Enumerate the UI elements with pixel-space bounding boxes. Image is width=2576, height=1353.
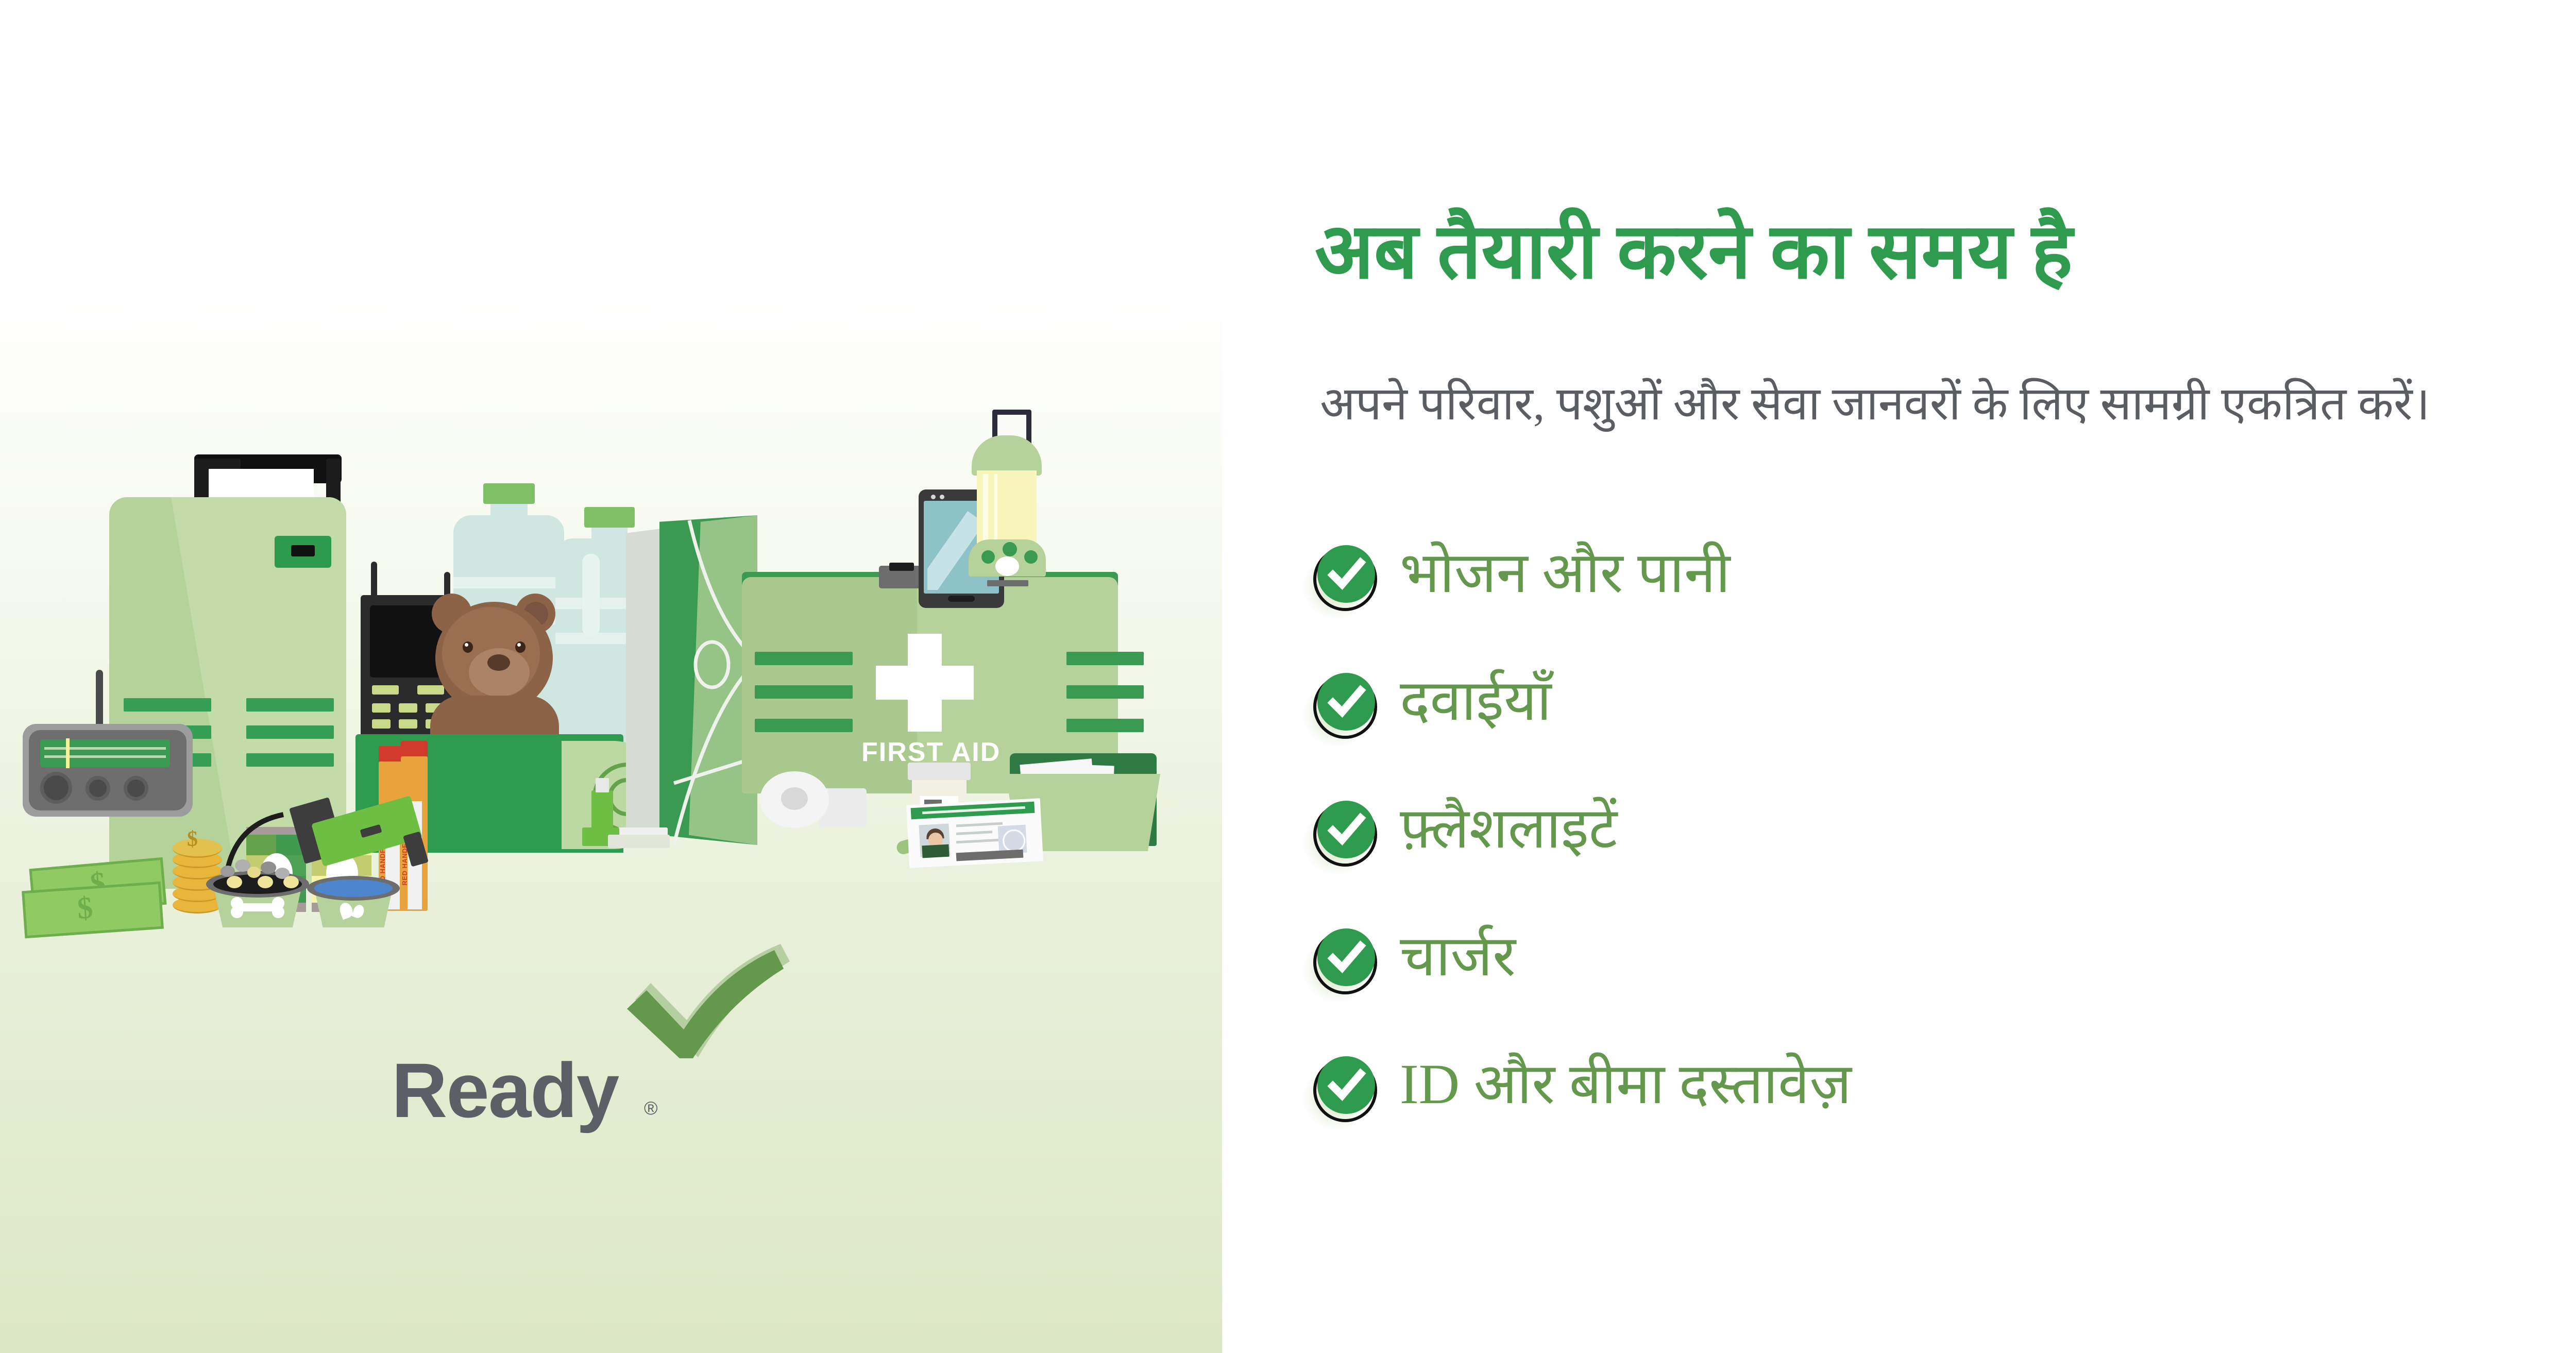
suitcase-strap — [246, 725, 334, 739]
radio-needle — [66, 738, 70, 768]
first-aid-strap — [755, 719, 853, 732]
lantern-knob — [981, 550, 995, 564]
walkie-talkie-key — [399, 719, 417, 729]
list-item[interactable]: ID और बीमा दस्तावेज़ — [1312, 1042, 2549, 1170]
first-aid-strap — [1066, 685, 1144, 699]
toilet-paper-core — [781, 787, 808, 810]
first-aid-cross-icon — [876, 666, 974, 700]
lantern-base-bar — [987, 580, 1028, 586]
walkie-talkie-key — [372, 685, 399, 695]
tablet-home-button — [948, 596, 975, 602]
first-aid-clasp-top — [889, 563, 914, 571]
coin-dollar-icon: $ — [187, 827, 198, 852]
battery-terminal — [596, 778, 609, 792]
content-panel: अब तैयारी करने का समय है अपने परिवार, पश… — [1222, 0, 2576, 1353]
water-jug-back-cap — [483, 483, 535, 504]
check-circle-icon — [1312, 928, 1374, 990]
registered-trademark-icon: ® — [644, 1097, 658, 1119]
pill-bottle-cap — [908, 763, 971, 780]
check-circle-icon — [1312, 801, 1374, 862]
suitcase-strap — [246, 698, 334, 712]
radio-knob — [86, 776, 110, 801]
jug-band — [453, 577, 564, 588]
first-aid-strap — [755, 685, 853, 699]
walkie-talkie-key — [372, 703, 391, 713]
pet-water-surface — [314, 880, 393, 897]
poster-canvas: FIRST AID — [0, 0, 2576, 1353]
list-item[interactable]: फ़्लैशलाइटें — [1312, 786, 2549, 914]
teddy-nose — [487, 654, 510, 671]
list-item-label: चार्जर — [1400, 914, 1516, 999]
id-photo-suit — [922, 844, 949, 858]
radio-dial-line — [44, 747, 166, 750]
lantern-knob — [1003, 542, 1017, 556]
check-circle-icon — [1312, 1056, 1374, 1118]
walkie-talkie-key — [417, 685, 444, 695]
teddy-eye-glint-right — [517, 643, 521, 647]
list-item-label: भोजन और पानी — [1400, 531, 1731, 616]
napkin-pack — [608, 835, 670, 848]
lantern-lens — [995, 556, 1019, 576]
first-aid-strap — [755, 652, 853, 665]
walkie-talkie-key — [399, 703, 417, 713]
radio-knob — [40, 772, 72, 804]
list-item-label: दवाईयाँ — [1400, 658, 1551, 743]
ready-logo: Ready ® — [330, 943, 845, 1159]
radio-knob — [124, 776, 148, 801]
water-jug-front-cap — [584, 507, 635, 528]
kibble — [258, 876, 273, 888]
list-item[interactable]: भोजन और पानी — [1312, 531, 2549, 658]
radio-dial-line — [44, 755, 166, 758]
list-item[interactable]: दवाईयाँ — [1312, 658, 2549, 786]
kibble — [283, 876, 299, 888]
suitcase-strap — [124, 698, 211, 712]
radio-dial — [40, 739, 170, 767]
supplies-illustration: FIRST AID — [0, 0, 1222, 907]
walkie-talkie-key — [372, 719, 391, 729]
first-aid-strap — [1066, 719, 1144, 732]
list-item-label: फ़्लैशलाइटें — [1400, 786, 1617, 871]
suitcase-lock-button — [291, 545, 315, 556]
kibble — [227, 876, 242, 888]
tablet-sensor-icon — [940, 495, 944, 499]
teddy-eye-glint-left — [465, 643, 468, 647]
dollar-sign-icon: $ — [76, 890, 94, 926]
bone-icon — [227, 897, 289, 918]
jug-highlight — [582, 554, 600, 636]
supplies-checklist: भोजन और पानी दवाईयाँ फ़्लैशलाइटें — [1312, 531, 2549, 1170]
tablet-camera-icon — [931, 495, 936, 499]
check-circle-icon — [1312, 673, 1374, 735]
kibble — [247, 867, 261, 878]
first-aid-strap — [1066, 652, 1144, 665]
check-circle-icon — [1312, 545, 1374, 607]
list-item-label: ID और बीमा दस्तावेज़ — [1400, 1042, 1852, 1127]
illustration-panel: FIRST AID — [0, 0, 1222, 1353]
page-title: अब तैयारी करने का समय है — [1315, 207, 2520, 298]
double-checkmark-icon — [626, 943, 801, 1061]
page-subtitle: अपने परिवार, पशुओं और सेवा जानवरों के लि… — [1320, 376, 2484, 433]
ready-wordmark: Ready — [392, 1046, 618, 1135]
lantern-knob — [1024, 550, 1038, 564]
list-item[interactable]: चार्जर — [1312, 914, 2549, 1042]
kibble — [221, 866, 235, 877]
kibble — [261, 861, 276, 874]
suitcase-strap — [246, 753, 334, 767]
